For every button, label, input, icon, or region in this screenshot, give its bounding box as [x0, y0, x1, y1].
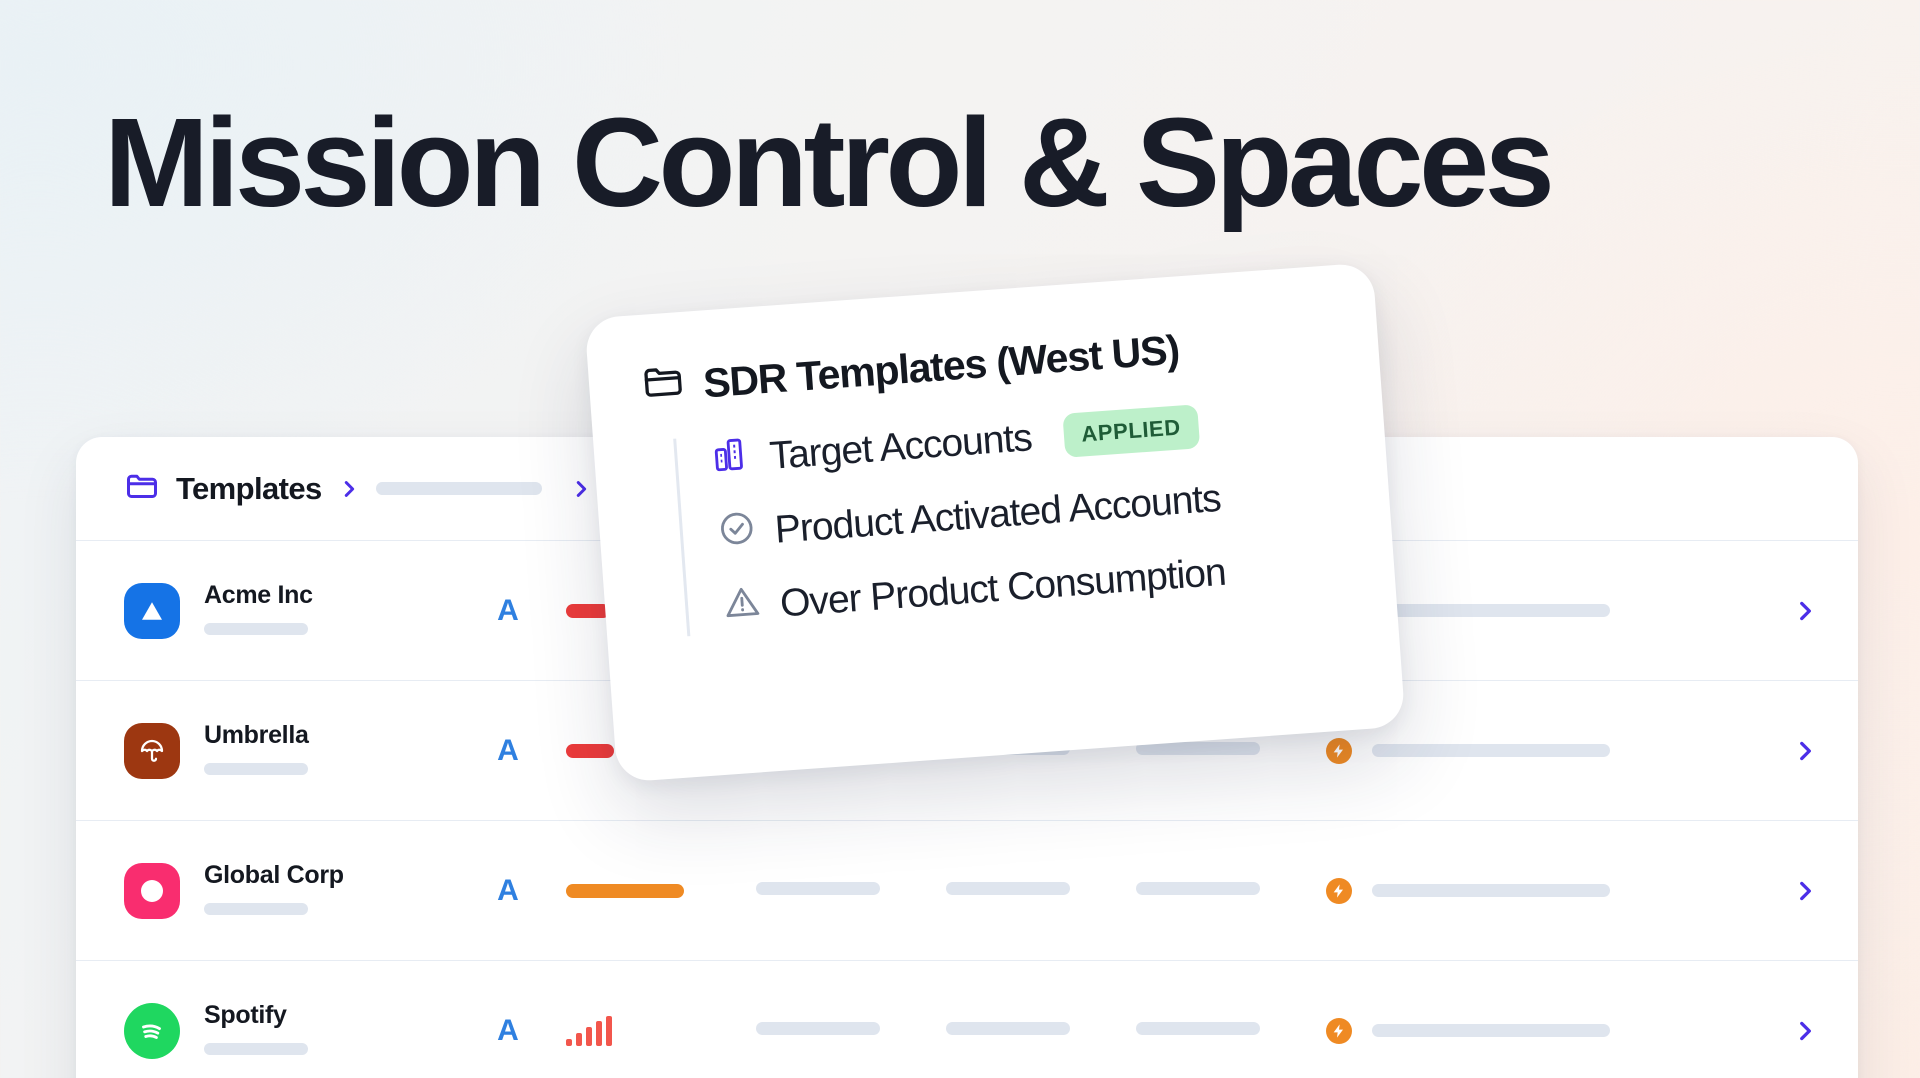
row-open-button[interactable]	[1758, 1018, 1818, 1044]
status-cell	[1326, 1018, 1758, 1044]
column-placeholder	[1136, 882, 1326, 900]
account-subtitle-placeholder	[204, 903, 308, 915]
warning-triangle-icon	[721, 581, 764, 634]
status-placeholder	[1372, 604, 1610, 617]
grade-letter: A	[450, 734, 566, 768]
status-placeholder	[1372, 884, 1610, 897]
column-placeholder	[1136, 742, 1326, 760]
grade-letter: A	[450, 874, 566, 908]
breadcrumb-label[interactable]: Templates	[176, 471, 322, 507]
grade-letter: A	[450, 594, 566, 628]
metric-bar-cell	[566, 884, 756, 898]
column-placeholder	[756, 882, 946, 900]
list-item[interactable]: Over Product Consumption	[721, 539, 1352, 634]
umbrella-logo	[124, 723, 180, 779]
table-row[interactable]: Global Corp A	[76, 821, 1858, 961]
table-row[interactable]: Spotify A	[76, 961, 1858, 1078]
space-items-list: Target Accounts APPLIED Product Activate…	[673, 391, 1351, 636]
column-placeholder	[946, 1022, 1136, 1040]
account-subtitle-placeholder	[204, 623, 308, 635]
check-circle-icon	[715, 507, 758, 560]
metric-mini-bars	[566, 1016, 612, 1046]
status-cell	[1326, 878, 1758, 904]
account-name-cell: Global Corp	[204, 861, 450, 920]
space-preview-card: SDR Templates (West US) Target Accounts …	[584, 262, 1405, 782]
list-item-label: Target Accounts	[768, 416, 1033, 479]
grade-letter: A	[450, 1014, 566, 1048]
spotify-logo	[124, 1003, 180, 1059]
account-name: Umbrella	[204, 721, 450, 750]
metric-bar-cell	[566, 1016, 756, 1046]
folder-icon	[640, 358, 688, 415]
status-placeholder	[1372, 744, 1610, 757]
global-corp-donut-logo	[124, 863, 180, 919]
row-open-button[interactable]	[1758, 598, 1818, 624]
column-placeholder	[756, 1022, 946, 1040]
buildings-icon	[710, 433, 753, 486]
lightning-bolt-icon	[1326, 738, 1352, 764]
card-title-text: SDR Templates (West US)	[702, 326, 1181, 407]
folder-icon	[124, 468, 160, 509]
column-placeholder	[1136, 1022, 1326, 1040]
account-name-cell: Spotify	[204, 1001, 450, 1060]
breadcrumb-placeholder	[376, 482, 542, 495]
acme-triangle-logo	[124, 583, 180, 639]
chevron-right-icon	[570, 478, 592, 500]
account-name-cell: Acme Inc	[204, 581, 450, 640]
account-name: Acme Inc	[204, 581, 450, 610]
row-open-button[interactable]	[1758, 738, 1818, 764]
row-open-button[interactable]	[1758, 878, 1818, 904]
column-placeholder	[946, 882, 1136, 900]
account-subtitle-placeholder	[204, 763, 308, 775]
account-subtitle-placeholder	[204, 1043, 308, 1055]
lightning-bolt-icon	[1326, 878, 1352, 904]
lightning-bolt-icon	[1326, 1018, 1352, 1044]
account-name: Global Corp	[204, 861, 450, 890]
page-title: Mission Control & Spaces	[104, 100, 1550, 226]
metric-bar	[566, 744, 614, 758]
status-placeholder	[1372, 1024, 1610, 1037]
metric-bar	[566, 884, 684, 898]
list-item-label: Product Activated Accounts	[773, 477, 1222, 553]
chevron-right-icon	[338, 478, 360, 500]
account-name-cell: Umbrella	[204, 721, 450, 780]
account-name: Spotify	[204, 1001, 450, 1030]
metric-bar	[566, 604, 610, 618]
list-item-label: Over Product Consumption	[779, 551, 1227, 627]
status-cell	[1326, 738, 1758, 764]
status-badge: APPLIED	[1062, 404, 1200, 458]
